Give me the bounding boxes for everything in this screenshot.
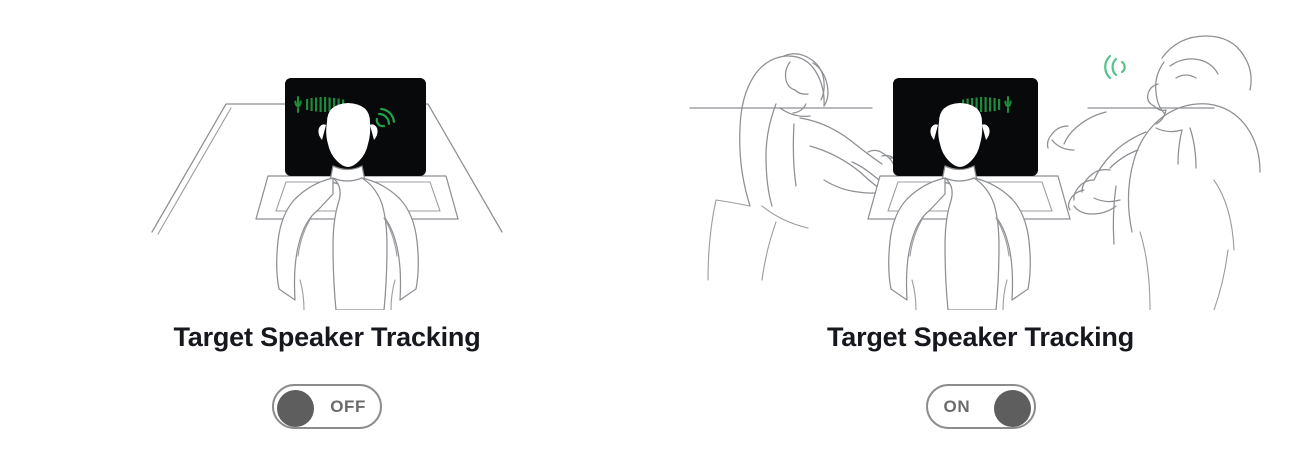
toggle-container-off: OFF <box>0 384 654 429</box>
page-title-on: Target Speaker Tracking <box>654 322 1307 353</box>
sound-wave-icon <box>1105 56 1124 78</box>
toggle-state-label-off: OFF <box>330 397 366 417</box>
page-root: Target Speaker Tracking OFF <box>0 0 1307 474</box>
woman-profile-left <box>708 54 907 280</box>
toggle-state-label-on: ON <box>944 397 971 417</box>
toggle-knob-off[interactable] <box>277 390 314 427</box>
page-title-off: Target Speaker Tracking <box>0 322 654 353</box>
illustration-three-people-meeting <box>654 0 1307 310</box>
toggle-container-on: ON <box>654 384 1307 429</box>
target-speaker-tracking-toggle-off[interactable]: OFF <box>272 384 382 429</box>
toggle-knob-on[interactable] <box>994 390 1031 427</box>
panel-off-state: Target Speaker Tracking OFF <box>0 0 654 474</box>
man-profile-right-speaking <box>1048 36 1261 310</box>
panel-on-state: Target Speaker Tracking ON <box>654 0 1307 474</box>
target-speaker-tracking-toggle-on[interactable]: ON <box>926 384 1036 429</box>
illustration-single-person-at-laptop <box>0 0 654 310</box>
